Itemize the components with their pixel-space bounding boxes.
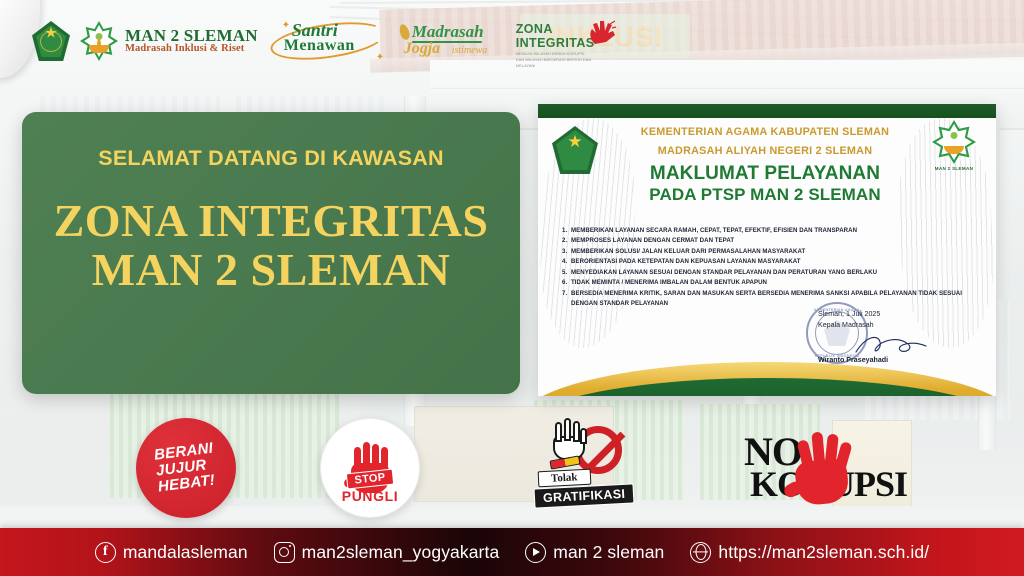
list-item: 7. BERSEDIA MENERIMA KRITIK, SARAN DAN M… — [562, 289, 978, 310]
list-item: 1. MEMBERIKAN LAYANAN SECARA RAMAH, CEPA… — [562, 226, 978, 236]
instagram-icon — [274, 542, 295, 563]
red-handprint-icon — [780, 424, 864, 510]
logo-santri-menawan: ✦ ✦ Santri Menawan — [268, 18, 388, 64]
welcome-line-3: MAN 2 SLEMAN — [92, 246, 451, 295]
list-item-number: 5. — [562, 268, 570, 278]
list-item: 3. MEMBERIKAN SOLUSI/ JALAN KELUAR DARI … — [562, 247, 978, 257]
footer-item-facebook[interactable]: f mandalasleman — [95, 542, 248, 563]
list-item-number: 7. — [562, 289, 570, 310]
logo-man2-sleman: MAN 2 SLEMAN Madrasah Inklusi & Riset — [80, 21, 258, 61]
man2-wordmark: MAN 2 SLEMAN Madrasah Inklusi & Riset — [125, 27, 258, 55]
list-item-number: 1. — [562, 226, 570, 236]
logo-zona-integritas: ZONA INTEGRITAS MENUJU WILAYAH BEBAS KOR… — [516, 19, 632, 63]
cert-signature-block: Sleman, 1 Juli 2025 Kepala Madrasah Wira… — [818, 309, 968, 366]
cert-top-bar — [538, 104, 996, 118]
welcome-line-1: SELAMAT DATANG DI KAWASAN — [98, 146, 443, 171]
list-item: 4. BERORIENTASI PADA KETEPATAN DAN KEPUA… — [562, 257, 978, 267]
list-item-number: 4. — [562, 257, 570, 267]
badge-no-korupsi: NO KORUPSI — [744, 424, 904, 512]
list-item-text: BERORIENTASI PADA KETEPATAN DAN KEPUASAN… — [571, 257, 801, 267]
instagram-handle: man2sleman_yogyakarta — [302, 542, 500, 563]
gratifikasi-label: GRATIFIKASI — [534, 483, 635, 508]
badge-berani-jujur-hebat: BERANI JUJUR HEBAT! — [136, 418, 236, 518]
list-item-text: TIDAK MEMINTA / MENERIMA IMBALAN DALAM B… — [571, 278, 767, 288]
kemenag-seal-icon: ★ — [32, 21, 70, 61]
list-item: 6. TIDAK MEMINTA / MENERIMA IMBALAN DALA… — [562, 278, 978, 288]
man2-wordmark-title: MAN 2 SLEMAN — [125, 27, 258, 44]
facebook-icon: f — [95, 542, 116, 563]
tolak-label: Tolak — [538, 469, 591, 488]
cert-title: MAKLUMAT PELAYANAN — [608, 163, 922, 185]
cert-heading-block: KEMENTERIAN AGAMA KABUPATEN SLEMAN MADRA… — [608, 126, 922, 205]
logo-madrasah-jogja: Madrasah Jogja istimewa — [398, 20, 506, 62]
cert-school: MADRASAH ALIYAH NEGERI 2 SLEMAN — [608, 145, 922, 157]
globe-icon — [690, 542, 711, 563]
poster-canvas: INKLUSI ★ MAN 2 SLEMAN Madrasah Inklusi … — [0, 0, 1024, 576]
cert-commitment-list: 1. MEMBERIKAN LAYANAN SECARA RAMAH, CEPA… — [562, 226, 978, 310]
cert-kemenag-seal-icon: ★ — [552, 126, 598, 174]
zi-tagline: MENUJU WILAYAH BEBAS KORUPSI DAN WILAYAH… — [516, 51, 594, 69]
santri-sparkle-icon: ✦ — [282, 20, 290, 31]
cert-seal-caption: MAN 2 SLEMAN — [928, 166, 980, 171]
footer-contact-bar: f mandalasleman man2sleman_yogyakarta ma… — [0, 528, 1024, 576]
zi-line1: ZONA — [516, 22, 553, 36]
list-item-text: MEMPROSES LAYANAN DENGAN CERMAT DAN TEPA… — [571, 236, 734, 246]
logo-kemenag: ★ — [32, 21, 70, 61]
footer-item-instagram[interactable]: man2sleman_yogyakarta — [274, 542, 500, 563]
madrasah-line3: istimewa — [452, 45, 488, 56]
list-item-number: 3. — [562, 247, 570, 257]
cert-man2-seal-icon: MAN 2 SLEMAN — [928, 120, 980, 178]
maklumat-pelayanan-card: ★ MAN 2 SLEMAN KEMENTERIAN AGAMA KABUPAT… — [538, 104, 996, 396]
website-url: https://man2sleman.sch.id/ — [718, 542, 929, 563]
facebook-handle: mandalasleman — [123, 542, 248, 563]
welcome-line-2: ZONA INTEGRITAS — [54, 197, 489, 246]
list-item-text: MEMBERIKAN SOLUSI/ JALAN KELUAR DARI PER… — [571, 247, 805, 257]
list-item-text: MEMBERIKAN LAYANAN SECARA RAMAH, CEPAT, … — [571, 226, 857, 236]
youtube-handle: man 2 sleman — [553, 542, 664, 563]
santri-line2: Menawan — [284, 37, 355, 55]
badge-tolak-gratifikasi: Tolak GRATIFIKASI — [534, 408, 650, 518]
cert-subtitle: PADA PTSP MAN 2 SLEMAN — [608, 185, 922, 205]
madrasah-line1: Madrasah — [412, 22, 484, 42]
cert-ministry: KEMENTERIAN AGAMA KABUPATEN SLEMAN — [608, 126, 922, 138]
man2-sleman-seal-icon — [80, 21, 118, 61]
berani-text: BERANI JUJUR HEBAT! — [154, 440, 219, 495]
welcome-panel: SELAMAT DATANG DI KAWASAN ZONA INTEGRITA… — [22, 112, 520, 394]
man2-wordmark-subtitle: Madrasah Inklusi & Riset — [125, 44, 258, 55]
list-item: 5. MENYEDIAKAN LAYANAN SESUAI DENGAN STA… — [562, 268, 978, 278]
pungli-label: PUNGLI — [321, 488, 419, 504]
madrasah-line2: Jogja — [404, 40, 440, 58]
badge-stop-pungli: STOP PUNGLI — [320, 418, 420, 518]
santri-sparkle-icon-2: ✦ — [376, 52, 384, 63]
list-item-text: MENYEDIAKAN LAYANAN SESUAI DENGAN STANDA… — [571, 268, 877, 278]
madrasah-leaf-icon — [397, 23, 411, 41]
list-item-text: BERSEDIA MENERIMA KRITIK, SARAN DAN MASU… — [571, 289, 978, 310]
youtube-icon — [525, 542, 546, 563]
list-item: 2. MEMPROSES LAYANAN DENGAN CERMAT DAN T… — [562, 236, 978, 246]
list-item-number: 2. — [562, 236, 570, 246]
zi-red-hand-icon — [586, 20, 616, 46]
footer-item-website[interactable]: https://man2sleman.sch.id/ — [690, 542, 929, 563]
footer-item-youtube[interactable]: man 2 sleman — [525, 542, 664, 563]
list-item-number: 6. — [562, 278, 570, 288]
signature-role: Kepala Madrasah — [818, 320, 968, 331]
signature-place-date: Sleman, 1 Juli 2025 — [818, 309, 968, 320]
header-logo-strip: ★ MAN 2 SLEMAN Madrasah Inklusi & Riset … — [18, 8, 1024, 74]
zi-line2: INTEGRITAS — [516, 36, 595, 50]
